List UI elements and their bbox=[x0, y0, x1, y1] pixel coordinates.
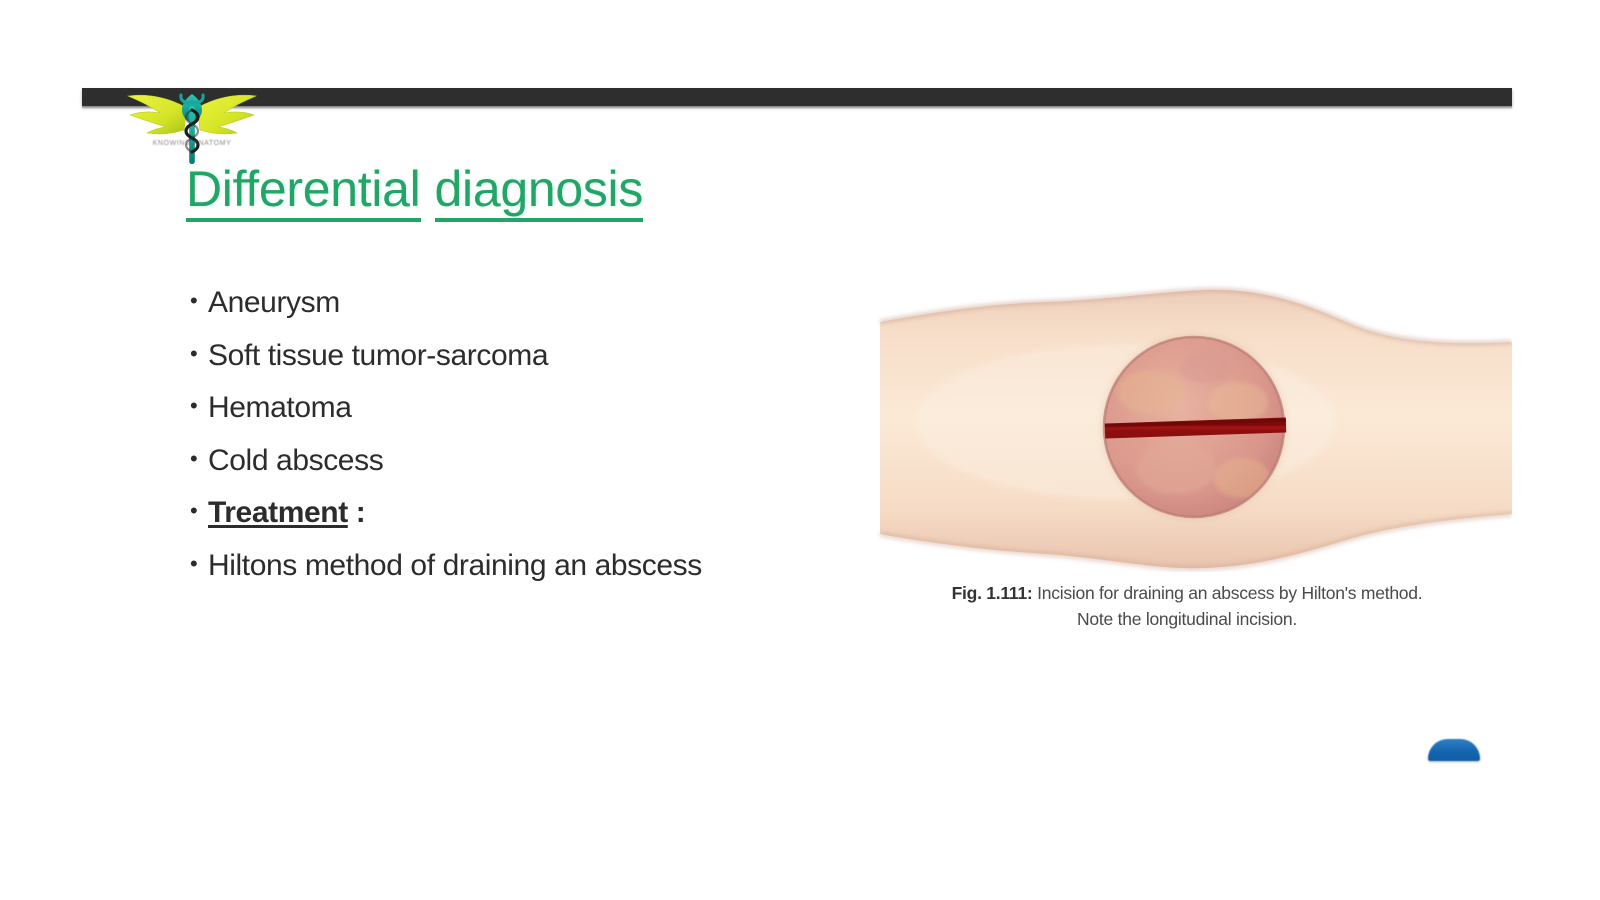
list-item-label-suffix: : bbox=[348, 496, 366, 529]
figure-caption-line-2: Note the longitudinal incision. bbox=[1077, 609, 1297, 629]
differential-diagnosis-list: • Aneurysm • Soft tissue tumor-sarcoma •… bbox=[190, 286, 890, 602]
list-item-label: Hematoma bbox=[208, 391, 890, 425]
figure-caption: Fig. 1.111: Incision for draining an abs… bbox=[876, 580, 1498, 633]
list-item-label: Treatment bbox=[208, 496, 348, 529]
list-item: • Soft tissue tumor-sarcoma bbox=[190, 339, 890, 373]
slide-top-bar bbox=[82, 88, 1512, 106]
page-title: Differentialdiagnosis bbox=[186, 163, 643, 222]
list-item-label-wrapper: Treatment : bbox=[208, 496, 890, 530]
logo-wing-left bbox=[128, 95, 187, 134]
slide-canvas: KNOWING ANATOMY Differentialdiagnosis • … bbox=[0, 0, 1600, 900]
bullet-dot-icon: • bbox=[190, 444, 208, 474]
list-item: • Hiltons method of draining an abscess bbox=[190, 549, 890, 583]
list-item: • Cold abscess bbox=[190, 444, 890, 478]
abscess-incision-figure bbox=[876, 282, 1512, 572]
logo-wing-right bbox=[197, 95, 256, 134]
bullet-dot-icon: • bbox=[190, 286, 208, 316]
list-item-label: Hiltons method of draining an abscess bbox=[208, 549, 890, 583]
blue-dome-overlay bbox=[1428, 739, 1480, 761]
bullet-dot-icon: • bbox=[190, 339, 208, 369]
figure-number: Fig. 1.111: bbox=[952, 583, 1033, 603]
list-item-label: Soft tissue tumor-sarcoma bbox=[208, 339, 890, 373]
list-item-treatment: • Treatment : bbox=[190, 496, 890, 530]
figure-caption-line-1: Incision for draining an abscess by Hilt… bbox=[1033, 583, 1423, 603]
list-item: • Hematoma bbox=[190, 391, 890, 425]
list-item: • Aneurysm bbox=[190, 286, 890, 320]
page-title-word-1: Differential bbox=[186, 163, 421, 222]
logo-wordmark: KNOWING ANATOMY bbox=[112, 140, 272, 147]
bullet-dot-icon: • bbox=[190, 549, 208, 579]
list-item-label: Cold abscess bbox=[208, 444, 890, 478]
winged-caduceus-logo: KNOWING ANATOMY bbox=[112, 86, 272, 166]
list-item-label: Aneurysm bbox=[208, 286, 890, 320]
page-title-word-2: diagnosis bbox=[435, 163, 644, 222]
bullet-dot-icon: • bbox=[190, 496, 208, 526]
bullet-dot-icon: • bbox=[190, 391, 208, 421]
